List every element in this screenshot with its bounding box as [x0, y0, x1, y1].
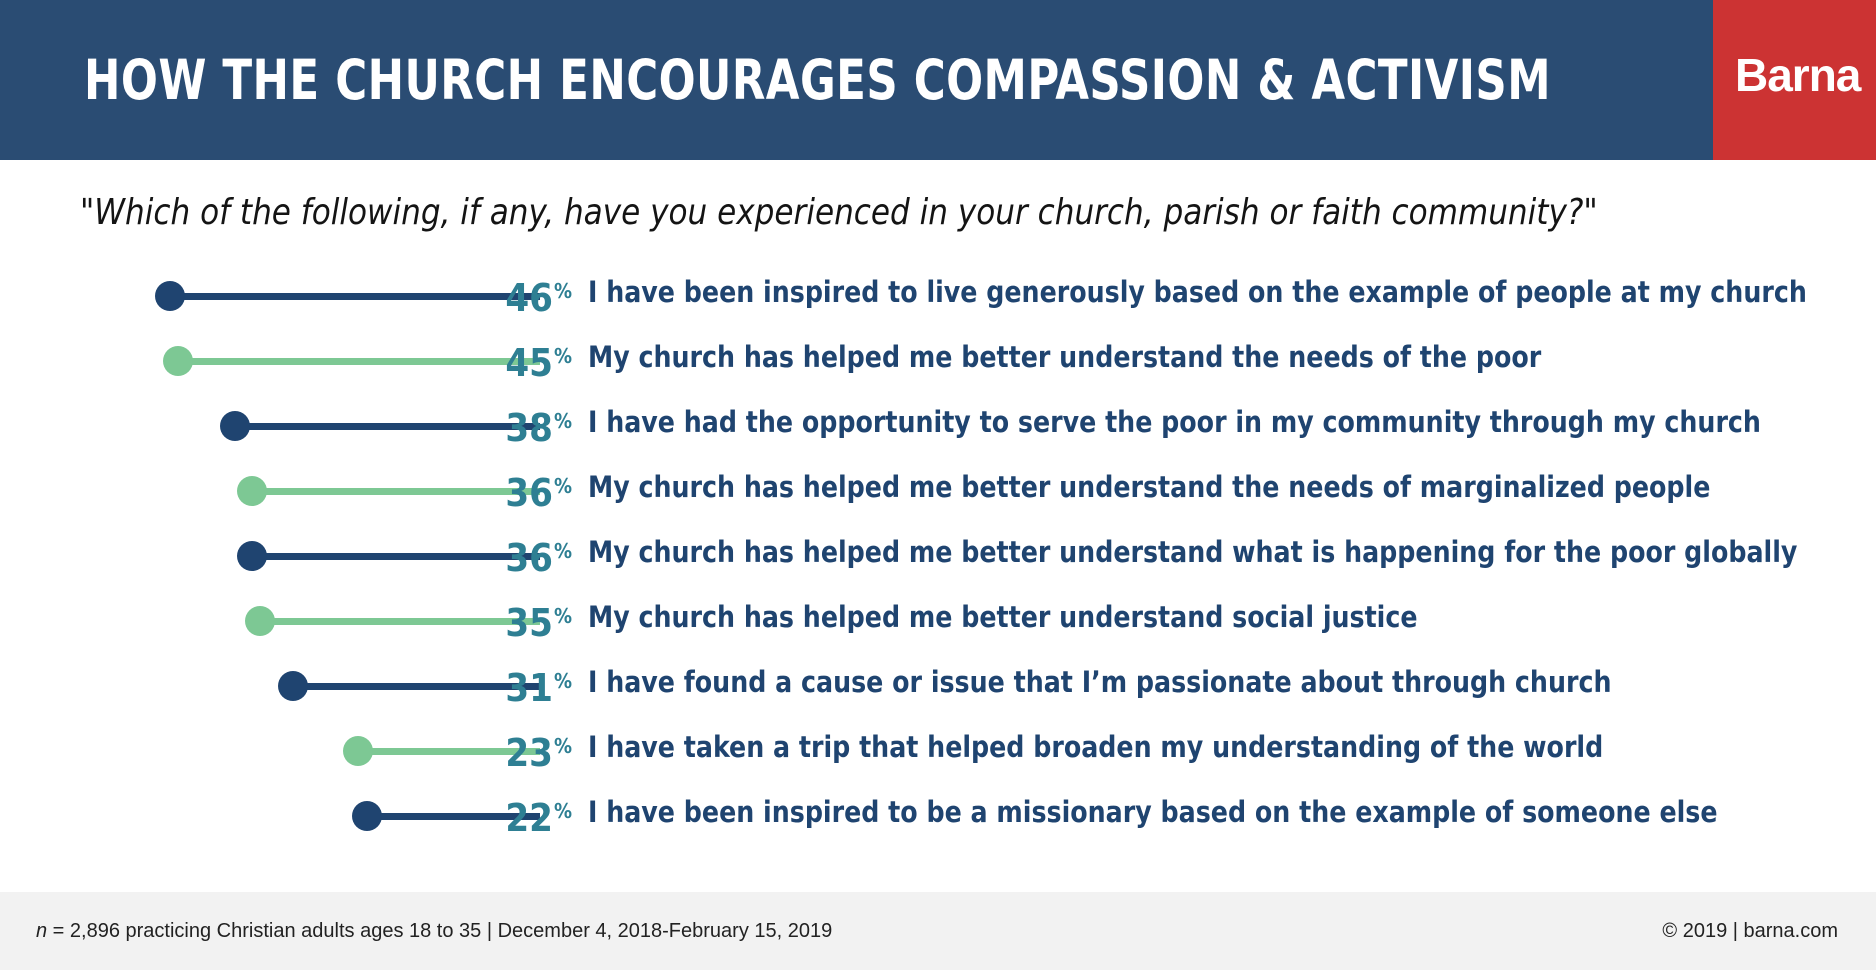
survey-question: "Which of the following, if any, have yo…: [80, 192, 1750, 233]
bar-category-label: My church has helped me better understan…: [588, 327, 1541, 392]
chart-row: 35%My church has helped me better unders…: [0, 587, 1876, 652]
bar-endpoint-dot: [245, 606, 275, 636]
bar-category-label: My church has helped me better understan…: [588, 587, 1418, 652]
chart-row: 36%My church has helped me better unders…: [0, 522, 1876, 587]
page-title: HOW THE CHURCH ENCOURAGES COMPASSION & A…: [84, 0, 1551, 160]
bar-value-percent: 35%: [480, 587, 572, 652]
sample-size-symbol: n: [36, 920, 47, 942]
header-bar: HOW THE CHURCH ENCOURAGES COMPASSION & A…: [0, 0, 1876, 160]
bar-value-percent: 22%: [480, 782, 572, 847]
brand-block: Barna: [1713, 0, 1876, 160]
percent-sign: %: [554, 799, 572, 823]
bar-value-percent: 36%: [480, 522, 572, 587]
bar-category-label: I have been inspired to be a missionary …: [588, 782, 1718, 847]
percent-sign: %: [554, 604, 572, 628]
bar-value-percent: 31%: [480, 652, 572, 717]
footer-copyright: © 2019 | barna.com: [1662, 892, 1838, 970]
chart-row: 36%My church has helped me better unders…: [0, 457, 1876, 522]
percent-sign: %: [554, 669, 572, 693]
bar-value-number: 38: [505, 406, 553, 450]
bar-category-label: I have found a cause or issue that I’m p…: [588, 652, 1611, 717]
bar-category-label: My church has helped me better understan…: [588, 522, 1797, 587]
bar-endpoint-dot: [352, 801, 382, 831]
bar-value-number: 22: [505, 796, 553, 840]
chart-row: 23%I have taken a trip that helped broad…: [0, 717, 1876, 782]
chart-row: 31%I have found a cause or issue that I’…: [0, 652, 1876, 717]
bar-value-number: 36: [505, 471, 553, 515]
footer-bar: n = 2,896 practicing Christian adults ag…: [0, 892, 1876, 970]
bar-value-number: 31: [505, 666, 553, 710]
percent-sign: %: [554, 409, 572, 433]
percent-sign: %: [554, 279, 572, 303]
chart-row: 46%I have been inspired to live generous…: [0, 262, 1876, 327]
bar-value-percent: 45%: [480, 327, 572, 392]
bar-endpoint-dot: [278, 671, 308, 701]
bar-value-number: 35: [505, 601, 553, 645]
bar-category-label: My church has helped me better understan…: [588, 457, 1710, 522]
footer-source-note: n = 2,896 practicing Christian adults ag…: [36, 892, 832, 970]
bar-chart: 46%I have been inspired to live generous…: [0, 262, 1876, 882]
chart-row: 38%I have had the opportunity to serve t…: [0, 392, 1876, 457]
bar-endpoint-dot: [237, 476, 267, 506]
chart-row: 45%My church has helped me better unders…: [0, 327, 1876, 392]
percent-sign: %: [554, 734, 572, 758]
bar-value-percent: 36%: [480, 457, 572, 522]
bar-category-label: I have had the opportunity to serve the …: [588, 392, 1761, 457]
bar-value-percent: 46%: [480, 262, 572, 327]
footer-source-text: = 2,896 practicing Christian adults ages…: [47, 920, 832, 942]
bar-value-percent: 38%: [480, 392, 572, 457]
bar-value-percent: 23%: [480, 717, 572, 782]
bar-category-label: I have been inspired to live generously …: [588, 262, 1807, 327]
bar-endpoint-dot: [343, 736, 373, 766]
bar-endpoint-dot: [155, 281, 185, 311]
bar-value-number: 23: [505, 731, 553, 775]
bar-endpoint-dot: [163, 346, 193, 376]
bar-value-number: 46: [505, 276, 553, 320]
bar-endpoint-dot: [237, 541, 267, 571]
chart-row: 22%I have been inspired to be a missiona…: [0, 782, 1876, 847]
percent-sign: %: [554, 344, 572, 368]
bar-value-number: 45: [505, 341, 553, 385]
percent-sign: %: [554, 474, 572, 498]
bar-endpoint-dot: [220, 411, 250, 441]
percent-sign: %: [554, 539, 572, 563]
bar-value-number: 36: [505, 536, 553, 580]
bar-category-label: I have taken a trip that helped broaden …: [588, 717, 1603, 782]
barna-logo: Barna: [1735, 0, 1860, 160]
